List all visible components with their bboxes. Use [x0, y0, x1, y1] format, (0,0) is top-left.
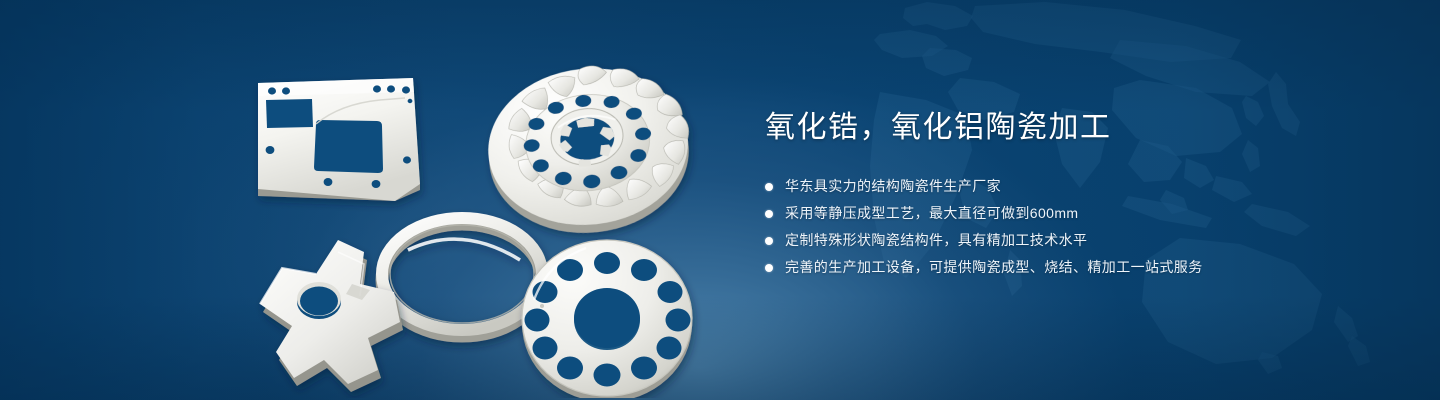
hero-banner: 氧化锆，氧化铝陶瓷加工 华东具实力的结构陶瓷件生产厂家 采用等静压成型工艺，最大…: [0, 0, 1440, 400]
ceramic-impeller: [480, 56, 698, 242]
list-item: 采用等静压成型工艺，最大直径可做到600mm: [765, 203, 1365, 224]
product-photo: [230, 38, 705, 398]
list-item: 完善的生产加工设备，可提供陶瓷成型、烧结、精加工一站式服务: [765, 257, 1365, 278]
banner-text-panel: 氧化锆，氧化铝陶瓷加工 华东具实力的结构陶瓷件生产厂家 采用等静压成型工艺，最大…: [765, 108, 1365, 284]
machined-ceramic-plate: [258, 78, 420, 201]
list-item: 定制特殊形状陶瓷结构件，具有精加工技术水平: [765, 230, 1365, 251]
bullet-dot-icon: [765, 210, 773, 218]
list-item-label: 华东具实力的结构陶瓷件生产厂家: [785, 176, 1001, 197]
list-item-label: 完善的生产加工设备，可提供陶瓷成型、烧结、精加工一站式服务: [785, 257, 1203, 278]
ceramic-ring: [382, 218, 542, 336]
ceramic-hole-flange: [522, 240, 692, 398]
feature-list: 华东具实力的结构陶瓷件生产厂家 采用等静压成型工艺，最大直径可做到600mm 定…: [765, 176, 1365, 278]
list-item: 华东具实力的结构陶瓷件生产厂家: [765, 176, 1365, 197]
bullet-dot-icon: [765, 237, 773, 245]
ceramic-components-illustration: [230, 38, 705, 398]
bullet-dot-icon: [765, 183, 773, 191]
bullet-dot-icon: [765, 264, 773, 272]
page-title: 氧化锆，氧化铝陶瓷加工: [765, 108, 1365, 148]
list-item-label: 采用等静压成型工艺，最大直径可做到600mm: [785, 203, 1078, 224]
list-item-label: 定制特殊形状陶瓷结构件，具有精加工技术水平: [785, 230, 1087, 251]
